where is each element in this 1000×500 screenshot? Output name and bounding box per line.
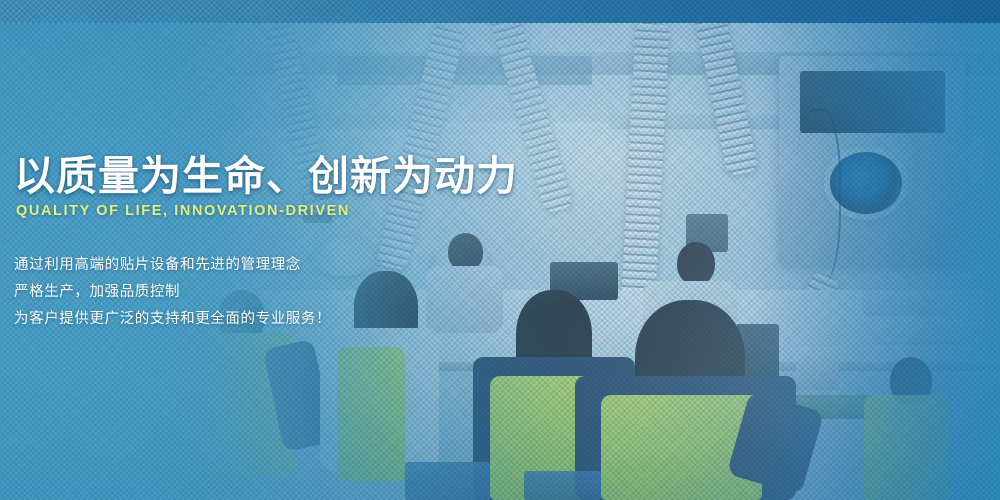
banner-subline: 通过利用高端的贴片设备和先进的管理理念 <box>14 256 331 275</box>
banner-subline: 为客户提供更广泛的支持和更全面的专业服务！ <box>14 310 331 329</box>
banner-copy: 以质量为生命、创新为动力 QUALITY OF LIFE, INNOVATION… <box>14 0 574 500</box>
hero-banner: 以质量为生命、创新为动力 QUALITY OF LIFE, INNOVATION… <box>0 0 1000 500</box>
right-blue-gradient <box>750 0 1000 500</box>
banner-subline: 严格生产，加强品质控制 <box>14 283 331 302</box>
banner-headline: 以质量为生命、创新为动力 <box>14 152 518 200</box>
banner-tagline: QUALITY OF LIFE, INNOVATION-DRIVEN <box>16 201 350 221</box>
worker-head <box>677 242 715 285</box>
banner-sublines: 通过利用高端的贴片设备和先进的管理理念 严格生产，加强品质控制 为客户提供更广泛… <box>14 256 331 329</box>
